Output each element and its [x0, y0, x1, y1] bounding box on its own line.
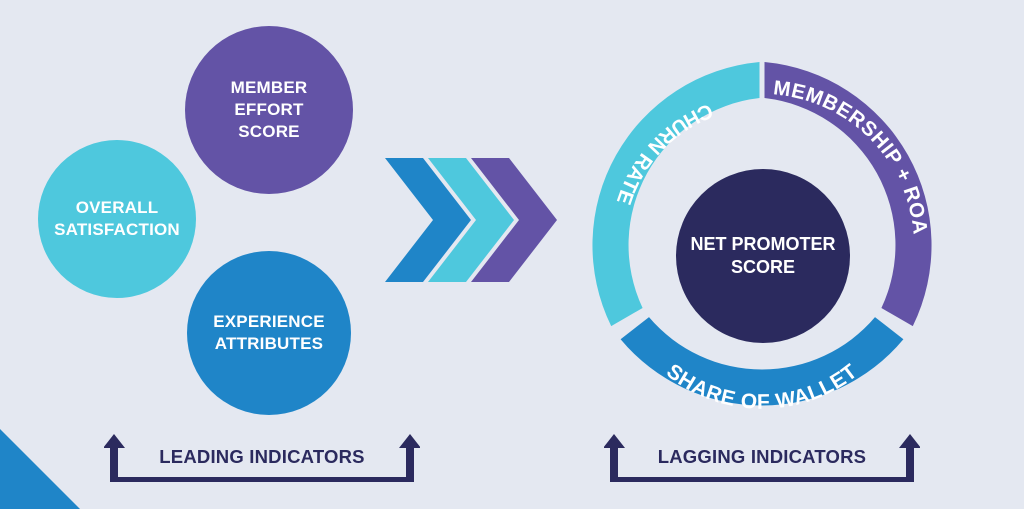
bubble-experience-attributes-line-1: EXPERIENCE [213, 311, 325, 333]
chevrons-svg [385, 158, 557, 282]
bubble-experience-attributes[interactable]: EXPERIENCE ATTRIBUTES [187, 251, 351, 415]
bubble-overall-satisfaction[interactable]: OVERALL SATISFACTION [38, 140, 196, 298]
infographic-canvas: OVERALL SATISFACTION MEMBER EFFORT SCORE… [0, 0, 1024, 509]
bracket-label-leading-indicators: LEADING INDICATORS [104, 446, 420, 468]
bracket-lagging-indicators: LAGGING INDICATORS [604, 428, 920, 494]
bracket-leading-indicators: LEADING INDICATORS [104, 428, 420, 494]
bubble-member-effort-score-line-2: EFFORT [231, 99, 308, 121]
bracket-label-lagging-indicators: LAGGING INDICATORS [604, 446, 920, 468]
bracket-baseline [110, 477, 414, 482]
donut-center-net-promoter-score[interactable]: NET PROMOTER SCORE [676, 169, 850, 343]
bubble-overall-satisfaction-line-2: SATISFACTION [54, 219, 180, 241]
bubble-overall-satisfaction-line-1: OVERALL [54, 197, 180, 219]
donut-center-line-2: PROMOTER [732, 234, 836, 254]
bubble-experience-attributes-line-2: ATTRIBUTES [213, 333, 325, 355]
donut-center-line-1: NET [690, 234, 726, 254]
bubble-member-effort-score[interactable]: MEMBER EFFORT SCORE [185, 26, 353, 194]
bubble-member-effort-score-line-1: MEMBER [231, 77, 308, 99]
bubble-member-effort-score-line-3: SCORE [231, 121, 308, 143]
corner-accent-triangle [0, 429, 80, 509]
donut-center-line-3: SCORE [731, 257, 795, 277]
flow-chevrons [385, 158, 557, 282]
bracket-baseline [610, 477, 914, 482]
